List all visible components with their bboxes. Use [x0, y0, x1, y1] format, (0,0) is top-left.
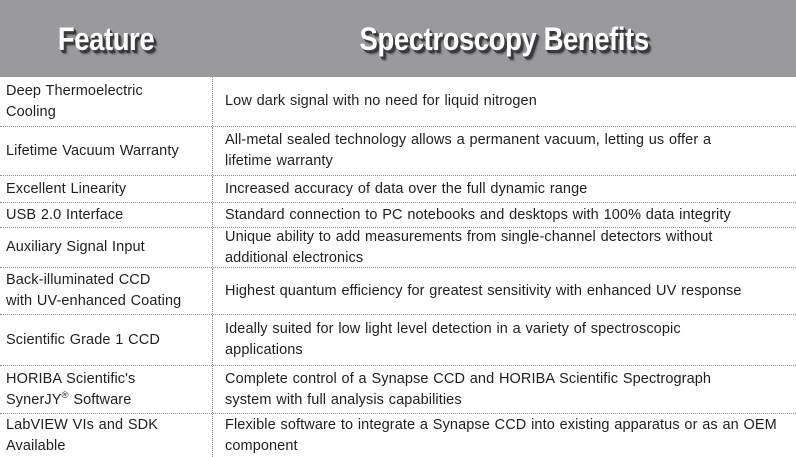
feature-line: Auxiliary Signal Input [6, 237, 206, 258]
registered-trademark-icon: ® [62, 390, 69, 401]
feature-benefits-table: Feature Spectroscopy Benefits Deep Therm… [0, 0, 796, 457]
feature-line: with UV-enhanced Coating [6, 291, 206, 312]
feature-line: Cooling [6, 102, 206, 123]
column-header-feature: Feature [0, 0, 213, 77]
benefit-line: lifetime warranty [225, 151, 792, 172]
table-row: Deep Thermoelectric Cooling Low dark sig… [0, 77, 796, 127]
feature-line: Back-illuminated CCD [6, 270, 206, 291]
benefit-cell: Highest quantum efficiency for greatest … [213, 268, 796, 314]
feature-line-synerjy: SynerJY® Software [6, 390, 206, 411]
feature-cell: HORIBA Scientific's SynerJY® Software [0, 366, 213, 413]
feature-line: HORIBA Scientific's [6, 369, 206, 390]
benefit-line: All-metal sealed technology allows a per… [225, 130, 792, 151]
table-row: Auxiliary Signal Input Unique ability to… [0, 228, 796, 268]
benefit-cell: All-metal sealed technology allows a per… [213, 127, 796, 175]
feature-cell: Back-illuminated CCD with UV-enhanced Co… [0, 268, 213, 314]
column-header-benefits: Spectroscopy Benefits [213, 0, 796, 77]
benefit-line: additional electronics [225, 248, 792, 269]
benefit-line: Ideally suited for low light level detec… [225, 319, 792, 340]
feature-line: Lifetime Vacuum Warranty [6, 141, 206, 162]
feature-cell: LabVIEW VIs and SDK Available [0, 414, 213, 457]
table-body: Deep Thermoelectric Cooling Low dark sig… [0, 77, 796, 457]
column-header-benefits-label: Spectroscopy Benefits [360, 23, 649, 55]
table-row: LabVIEW VIs and SDK Available Flexible s… [0, 414, 796, 457]
benefit-cell: Unique ability to add measurements from … [213, 228, 796, 267]
table-row: HORIBA Scientific's SynerJY® Software Co… [0, 366, 796, 414]
benefit-cell: Flexible software to integrate a Synapse… [213, 414, 796, 457]
benefit-line: Complete control of a Synapse CCD and HO… [225, 369, 792, 390]
table-row: Excellent Linearity Increased accuracy o… [0, 176, 796, 203]
table-row: Back-illuminated CCD with UV-enhanced Co… [0, 268, 796, 315]
feature-line: Available [6, 436, 206, 457]
benefit-cell: Standard connection to PC notebooks and … [213, 203, 796, 227]
table-row: Lifetime Vacuum Warranty All-metal seale… [0, 127, 796, 176]
table-row: USB 2.0 Interface Standard connection to… [0, 203, 796, 228]
feature-cell: Auxiliary Signal Input [0, 228, 213, 267]
feature-cell: Scientific Grade 1 CCD [0, 315, 213, 365]
column-header-feature-label: Feature [58, 23, 154, 55]
feature-line: Scientific Grade 1 CCD [6, 330, 206, 351]
benefit-line: Standard connection to PC notebooks and … [225, 205, 792, 226]
feature-line: LabVIEW VIs and SDK [6, 415, 206, 436]
table-header: Feature Spectroscopy Benefits [0, 0, 796, 77]
benefit-cell: Low dark signal with no need for liquid … [213, 77, 796, 126]
benefit-line: Increased accuracy of data over the full… [225, 179, 792, 200]
feature-line: Excellent Linearity [6, 179, 206, 200]
benefit-line: Unique ability to add measurements from … [225, 227, 792, 248]
feature-cell: Deep Thermoelectric Cooling [0, 77, 213, 126]
feature-cell: Excellent Linearity [0, 176, 213, 202]
benefit-cell: Increased accuracy of data over the full… [213, 176, 796, 202]
feature-line: Deep Thermoelectric [6, 81, 206, 102]
feature-cell: Lifetime Vacuum Warranty [0, 127, 213, 175]
benefit-line: system with full analysis capabilities [225, 390, 792, 411]
benefit-line: component [225, 436, 792, 457]
benefit-line: Low dark signal with no need for liquid … [225, 91, 792, 112]
benefit-line: applications [225, 340, 792, 361]
benefit-line: Highest quantum efficiency for greatest … [225, 281, 792, 302]
table-row: Scientific Grade 1 CCD Ideally suited fo… [0, 315, 796, 366]
benefit-cell: Complete control of a Synapse CCD and HO… [213, 366, 796, 413]
feature-line: USB 2.0 Interface [6, 205, 206, 226]
benefit-cell: Ideally suited for low light level detec… [213, 315, 796, 365]
benefit-line: Flexible software to integrate a Synapse… [225, 415, 792, 436]
feature-cell: USB 2.0 Interface [0, 203, 213, 227]
